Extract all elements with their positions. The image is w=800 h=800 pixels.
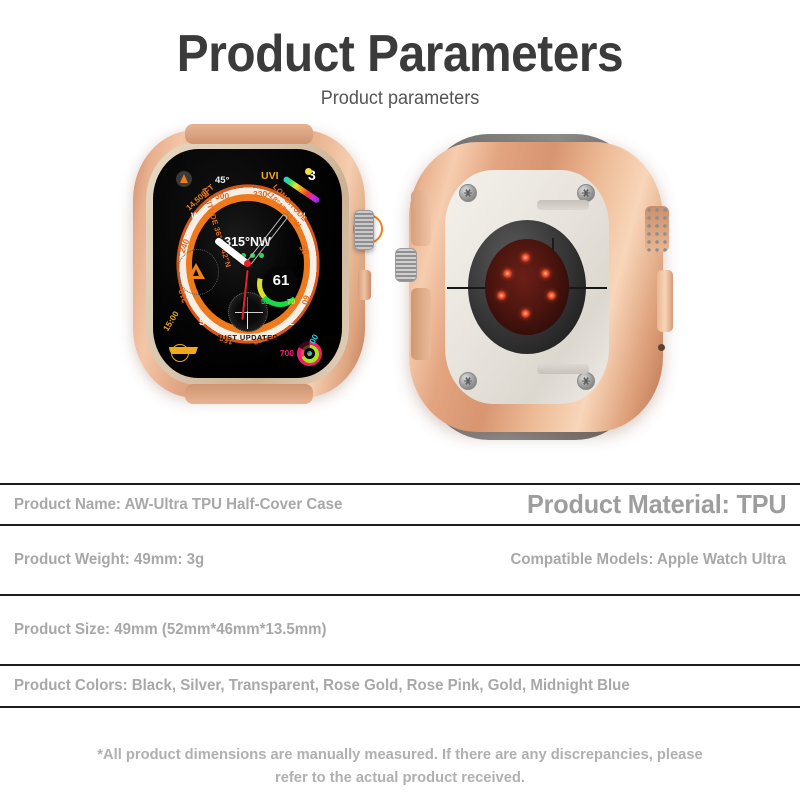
side-button[interactable] xyxy=(358,270,371,300)
digital-crown[interactable] xyxy=(354,210,374,250)
spec-row-weight: Product Weight: 49mm: 3g Compatible Mode… xyxy=(0,526,800,594)
sensor-back-plate xyxy=(445,170,609,404)
spec-row-size: Product Size: 49mm (52mm*46mm*13.5mm) xyxy=(0,596,800,664)
case-screw xyxy=(459,184,477,202)
timer-icon xyxy=(171,344,189,362)
heart-rate-low: 53 xyxy=(261,297,269,306)
band-connector-bottom xyxy=(185,384,313,404)
disclaimer-line-2: refer to the actual product received. xyxy=(41,766,758,789)
spec-row-name: Product Name: AW-Ultra TPU Half-Cover Ca… xyxy=(0,485,800,524)
disclaimer-line-1: *All product dimensions are manually mea… xyxy=(41,743,758,766)
update-status-text: JUST UPDATED xyxy=(217,333,279,342)
divider xyxy=(0,706,800,708)
speaker-grill xyxy=(645,206,669,252)
spec-row-colors: Product Colors: Black, Silver, Transpare… xyxy=(0,666,800,706)
band-connector-top xyxy=(185,124,313,144)
spec-product-material: Product Material: TPU xyxy=(527,489,786,520)
watch-front-view: 300 330 30 60 120 150 210 240 W E S N LA… xyxy=(133,130,365,398)
page-title: Product Parameters xyxy=(32,26,768,82)
action-button[interactable] xyxy=(657,270,673,332)
disclaimer: *All product dimensions are manually mea… xyxy=(0,743,800,790)
page-subtitle: Product parameters xyxy=(20,88,780,110)
bezel-cardinal-west: W xyxy=(191,211,200,221)
watch-back-view xyxy=(405,128,675,446)
heart-rate-value: 61 xyxy=(266,272,296,289)
sensor-led xyxy=(503,269,512,278)
case-left-rail-bottom xyxy=(411,288,431,360)
product-image-stage: 300 330 30 60 120 150 210 240 W E S N LA… xyxy=(0,126,800,466)
bezel-cardinal-east: E xyxy=(288,317,294,327)
heart-sensor-housing xyxy=(468,220,586,354)
incline-value: 45° xyxy=(215,175,229,186)
altimeter-icon xyxy=(176,171,192,187)
bezel-cardinal-south: S xyxy=(199,317,205,327)
plate-notch-bottom xyxy=(537,364,589,374)
digital-crown-back[interactable] xyxy=(395,248,417,282)
uvi-label: UVI xyxy=(261,170,279,182)
microphone-hole-icon xyxy=(658,344,665,351)
tpu-case-back xyxy=(409,142,663,432)
tpu-case-front: 300 330 30 60 120 150 210 240 W E S N LA… xyxy=(133,130,365,398)
sensor-led xyxy=(521,253,530,262)
bezel-number: 300 xyxy=(215,191,229,201)
heart-sensor-lens xyxy=(485,239,569,335)
case-screw xyxy=(577,372,595,390)
spec-product-size: Product Size: 49mm (52mm*46mm*13.5mm) xyxy=(14,621,327,639)
warning-triangle-icon xyxy=(187,263,205,279)
spec-product-name: Product Name: AW-Ultra TPU Half-Cover Ca… xyxy=(14,496,342,514)
sensor-led xyxy=(521,309,530,318)
page-header: Product Parameters Product parameters xyxy=(0,0,800,110)
watch-screen: 300 330 30 60 120 150 210 240 W E S N LA… xyxy=(153,149,342,378)
activity-move-value: 700 xyxy=(280,348,294,358)
sensor-led xyxy=(541,269,550,278)
spec-product-weight: Product Weight: 49mm: 3g xyxy=(14,551,204,569)
sensor-led xyxy=(547,291,556,300)
heart-rate-high: 70 xyxy=(287,297,295,306)
spec-product-colors: Product Colors: Black, Silver, Transpare… xyxy=(14,677,630,695)
specifications-table: Product Name: AW-Ultra TPU Half-Cover Ca… xyxy=(0,483,800,708)
case-left-rail-top xyxy=(411,190,431,246)
sensor-led xyxy=(497,291,506,300)
case-screw xyxy=(459,372,477,390)
activity-rings-icon xyxy=(297,341,322,366)
spec-compatible-models: Compatible Models: Apple Watch Ultra xyxy=(511,551,786,569)
plate-notch-top xyxy=(537,200,589,210)
